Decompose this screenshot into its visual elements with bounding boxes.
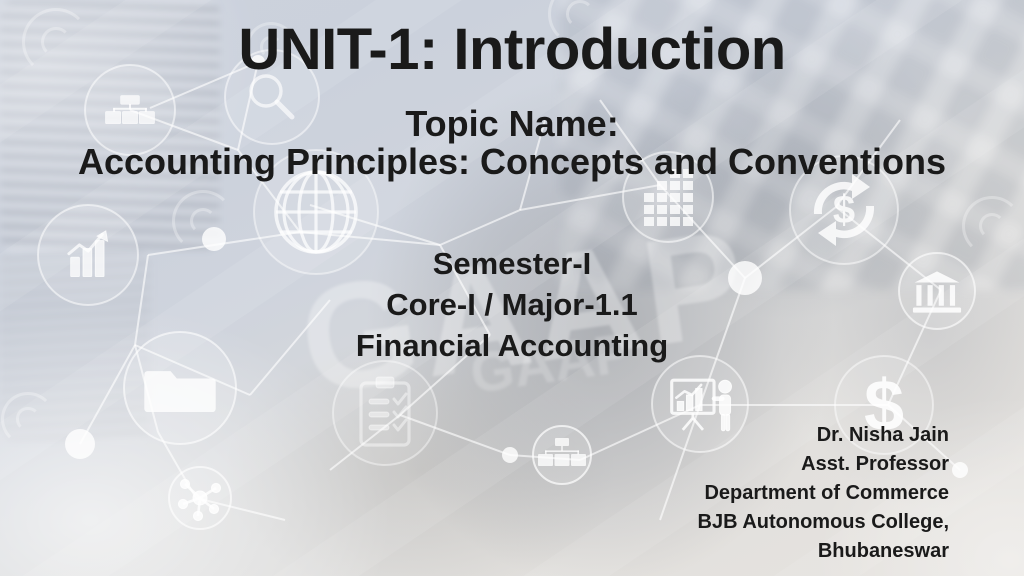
presentation-slide: GAAP GAAP	[0, 0, 1024, 576]
author-details: Dr. Nisha Jain Asst. Professor Departmen…	[698, 421, 949, 566]
author-designation: Asst. Professor	[698, 450, 949, 479]
topic-label: Topic Name:	[0, 104, 1024, 144]
hub-network-icon	[169, 467, 231, 529]
topic-name: Accounting Principles: Concepts and Conv…	[0, 142, 1024, 182]
course-semester: Semester-I	[0, 243, 1024, 284]
author-city: Bhubaneswar	[698, 537, 949, 566]
author-institution: BJB Autonomous College,	[698, 508, 949, 537]
course-details: Semester-I Core-I / Major-1.1 Financial …	[0, 243, 1024, 367]
org-chart-small-icon	[533, 426, 591, 484]
slide-title: UNIT-1: Introduction	[0, 20, 1024, 81]
author-department: Department of Commerce	[698, 479, 949, 508]
course-code: Core-I / Major-1.1	[0, 284, 1024, 325]
author-name: Dr. Nisha Jain	[698, 421, 949, 450]
course-subject: Financial Accounting	[0, 325, 1024, 366]
clipboard-checklist-icon	[333, 361, 437, 465]
